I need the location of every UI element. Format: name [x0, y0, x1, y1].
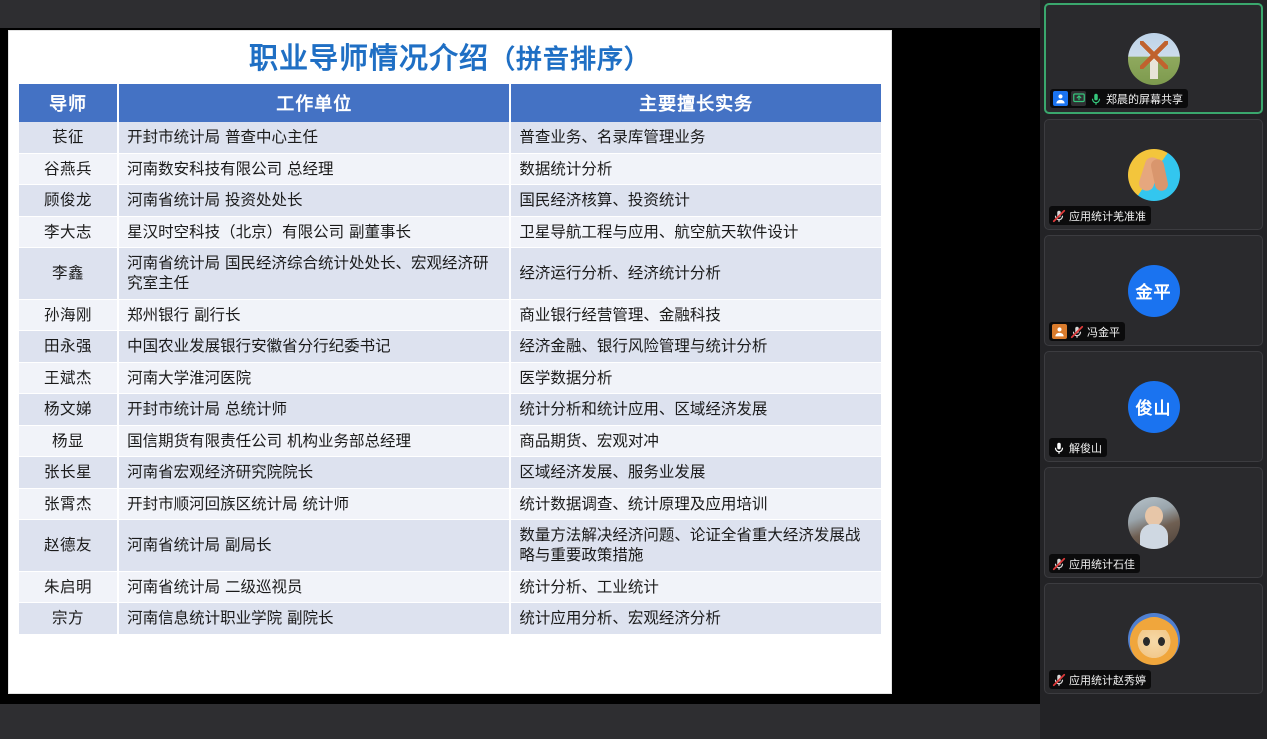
cell-workplace: 星汉时空科技（北京）有限公司 副董事长 — [118, 216, 510, 247]
participant-label: 应用统计赵秀婷 — [1049, 670, 1151, 689]
microphone-muted-icon — [1052, 673, 1066, 687]
cell-expertise: 经济运行分析、经济统计分析 — [510, 247, 881, 299]
table-row: 孙海刚郑州银行 副行长商业银行经营管理、金融科技 — [19, 299, 881, 330]
cell-workplace: 河南省统计局 投资处处长 — [118, 185, 510, 216]
cell-expertise: 统计分析和统计应用、区域经济发展 — [510, 394, 881, 425]
host-person-icon — [1052, 324, 1067, 339]
table-row: 朱启明河南省统计局 二级巡视员统计分析、工业统计 — [19, 571, 881, 602]
cell-workplace: 河南信息统计职业学院 副院长 — [118, 603, 510, 634]
microphone-muted-icon — [1070, 325, 1084, 339]
avatar — [1128, 497, 1180, 549]
cell-mentor-name: 田永强 — [19, 331, 118, 362]
table-row: 李鑫河南省统计局 国民经济综合统计处处长、宏观经济研究室主任经济运行分析、经济统… — [19, 247, 881, 299]
cell-mentor-name: 杨文娣 — [19, 394, 118, 425]
table-row: 苌征开封市统计局 普查中心主任普查业务、名录库管理业务 — [19, 122, 881, 153]
cell-expertise: 商品期货、宏观对冲 — [510, 425, 881, 456]
microphone-muted-icon — [1052, 209, 1066, 223]
cell-workplace: 中国农业发展银行安徽省分行纪委书记 — [118, 331, 510, 362]
avatar-image — [1128, 33, 1180, 85]
cell-mentor-name: 顾俊龙 — [19, 185, 118, 216]
cell-mentor-name: 李大志 — [19, 216, 118, 247]
cell-workplace: 河南省宏观经济研究院院长 — [118, 457, 510, 488]
cell-mentor-name: 赵德友 — [19, 520, 118, 572]
cell-workplace: 河南省统计局 国民经济综合统计处处长、宏观经济研究室主任 — [118, 247, 510, 299]
avatar-image — [1128, 149, 1180, 201]
cell-mentor-name: 李鑫 — [19, 247, 118, 299]
participant-name: 应用统计石佳 — [1069, 556, 1135, 572]
slide-title-main: 职业导师情况介绍 — [249, 41, 489, 75]
cell-mentor-name: 杨显 — [19, 425, 118, 456]
cell-expertise: 普查业务、名录库管理业务 — [510, 122, 881, 153]
cell-workplace: 河南省统计局 二级巡视员 — [118, 571, 510, 602]
table-row: 杨文娣开封市统计局 总统计师统计分析和统计应用、区域经济发展 — [19, 394, 881, 425]
cell-workplace: 河南数安科技有限公司 总经理 — [118, 153, 510, 184]
microphone-muted-icon — [1052, 557, 1066, 571]
participant-label: 应用统计石佳 — [1049, 554, 1140, 573]
screen-share-icon — [1071, 91, 1086, 106]
mentor-table: 导师 工作单位 主要擅长实务 苌征开封市统计局 普查中心主任普查业务、名录库管理… — [19, 84, 881, 635]
microphone-icon — [1052, 441, 1066, 455]
cell-expertise: 数量方法解决经济问题、论证全省重大经济发展战略与重要政策措施 — [510, 520, 881, 572]
host-person-icon — [1053, 91, 1068, 106]
presentation-slide[interactable]: 职业导师情况介绍（拼音排序） 导师 工作单位 主要擅长实务 苌征开封市统计局 普… — [8, 30, 892, 694]
table-row: 张长星河南省宏观经济研究院院长区域经济发展、服务业发展 — [19, 457, 881, 488]
slide-title-subtitle: （拼音排序） — [489, 45, 651, 75]
participant-tile[interactable]: 金平冯金平 — [1044, 235, 1263, 346]
cell-workplace: 开封市顺河回族区统计局 统计师 — [118, 488, 510, 519]
avatar: 金平 — [1128, 265, 1180, 317]
cell-expertise: 国民经济核算、投资统计 — [510, 185, 881, 216]
cell-mentor-name: 孙海刚 — [19, 299, 118, 330]
shared-screen-area[interactable]: 职业导师情况介绍（拼音排序） 导师 工作单位 主要擅长实务 苌征开封市统计局 普… — [0, 0, 1040, 704]
shared-screen-top-bar — [0, 0, 1040, 28]
table-row: 宗方河南信息统计职业学院 副院长统计应用分析、宏观经济分析 — [19, 603, 881, 634]
table-row: 李大志星汉时空科技（北京）有限公司 副董事长卫星导航工程与应用、航空航天软件设计 — [19, 216, 881, 247]
avatar — [1128, 613, 1180, 665]
table-row: 张霄杰开封市顺河回族区统计局 统计师统计数据调查、统计原理及应用培训 — [19, 488, 881, 519]
cell-mentor-name: 张长星 — [19, 457, 118, 488]
participant-label: 应用统计羌准准 — [1049, 206, 1151, 225]
avatar-image — [1128, 613, 1180, 665]
participant-name: 应用统计赵秀婷 — [1069, 672, 1146, 688]
cell-expertise: 经济金融、银行风险管理与统计分析 — [510, 331, 881, 362]
table-row: 赵德友河南省统计局 副局长数量方法解决经济问题、论证全省重大经济发展战略与重要政… — [19, 520, 881, 572]
mentor-table-body: 苌征开封市统计局 普查中心主任普查业务、名录库管理业务谷燕兵河南数安科技有限公司… — [19, 122, 881, 634]
cell-mentor-name: 苌征 — [19, 122, 118, 153]
cell-mentor-name: 朱启明 — [19, 571, 118, 602]
participant-name: 郑晨的屏幕共享 — [1106, 91, 1183, 107]
table-row: 顾俊龙河南省统计局 投资处处长国民经济核算、投资统计 — [19, 185, 881, 216]
cell-expertise: 数据统计分析 — [510, 153, 881, 184]
table-row: 王斌杰河南大学淮河医院医学数据分析 — [19, 362, 881, 393]
cell-expertise: 卫星导航工程与应用、航空航天软件设计 — [510, 216, 881, 247]
avatar — [1128, 149, 1180, 201]
cell-workplace: 河南省统计局 副局长 — [118, 520, 510, 572]
window-bottom-band — [0, 704, 1040, 739]
avatar-image — [1128, 497, 1180, 549]
participant-tile[interactable]: 应用统计羌准准 — [1044, 119, 1263, 230]
avatar-initials: 俊山 — [1136, 394, 1172, 419]
cell-expertise: 统计应用分析、宏观经济分析 — [510, 603, 881, 634]
cell-mentor-name: 张霄杰 — [19, 488, 118, 519]
participant-tile[interactable]: 郑晨的屏幕共享 — [1044, 3, 1263, 114]
participant-label: 郑晨的屏幕共享 — [1050, 89, 1188, 108]
participant-tile[interactable]: 俊山解俊山 — [1044, 351, 1263, 462]
cell-expertise: 统计分析、工业统计 — [510, 571, 881, 602]
column-header-workplace: 工作单位 — [118, 84, 510, 122]
column-header-mentor: 导师 — [19, 84, 118, 122]
table-header-row: 导师 工作单位 主要擅长实务 — [19, 84, 881, 122]
cell-workplace: 开封市统计局 普查中心主任 — [118, 122, 510, 153]
cell-workplace: 河南大学淮河医院 — [118, 362, 510, 393]
cell-expertise: 商业银行经营管理、金融科技 — [510, 299, 881, 330]
meeting-screen-share-window: 职业导师情况介绍（拼音排序） 导师 工作单位 主要擅长实务 苌征开封市统计局 普… — [0, 0, 1267, 739]
cell-workplace: 郑州银行 副行长 — [118, 299, 510, 330]
table-row: 田永强中国农业发展银行安徽省分行纪委书记经济金融、银行风险管理与统计分析 — [19, 331, 881, 362]
avatar-initials: 金平 — [1136, 278, 1172, 303]
cell-workplace: 开封市统计局 总统计师 — [118, 394, 510, 425]
cell-expertise: 医学数据分析 — [510, 362, 881, 393]
participant-name: 解俊山 — [1069, 440, 1102, 456]
cell-expertise: 区域经济发展、服务业发展 — [510, 457, 881, 488]
slide-title: 职业导师情况介绍（拼音排序） — [19, 37, 881, 84]
avatar: 俊山 — [1128, 381, 1180, 433]
microphone-icon — [1089, 92, 1103, 106]
column-header-expertise: 主要擅长实务 — [510, 84, 881, 122]
cell-mentor-name: 王斌杰 — [19, 362, 118, 393]
participant-tile[interactable]: 应用统计石佳 — [1044, 467, 1263, 578]
table-row: 杨显国信期货有限责任公司 机构业务部总经理商品期货、宏观对冲 — [19, 425, 881, 456]
participant-tile[interactable]: 应用统计赵秀婷 — [1044, 583, 1263, 694]
cell-mentor-name: 谷燕兵 — [19, 153, 118, 184]
participant-label: 解俊山 — [1049, 438, 1107, 457]
participant-video-strip[interactable]: 郑晨的屏幕共享应用统计羌准准金平冯金平俊山解俊山应用统计石佳应用统计赵秀婷 — [1040, 0, 1267, 739]
cell-expertise: 统计数据调查、统计原理及应用培训 — [510, 488, 881, 519]
table-row: 谷燕兵河南数安科技有限公司 总经理数据统计分析 — [19, 153, 881, 184]
cell-workplace: 国信期货有限责任公司 机构业务部总经理 — [118, 425, 510, 456]
mentor-table-header: 导师 工作单位 主要擅长实务 — [19, 84, 881, 122]
participant-name: 冯金平 — [1087, 324, 1120, 340]
participant-name: 应用统计羌准准 — [1069, 208, 1146, 224]
cell-mentor-name: 宗方 — [19, 603, 118, 634]
avatar — [1128, 33, 1180, 85]
participant-label: 冯金平 — [1049, 322, 1125, 341]
